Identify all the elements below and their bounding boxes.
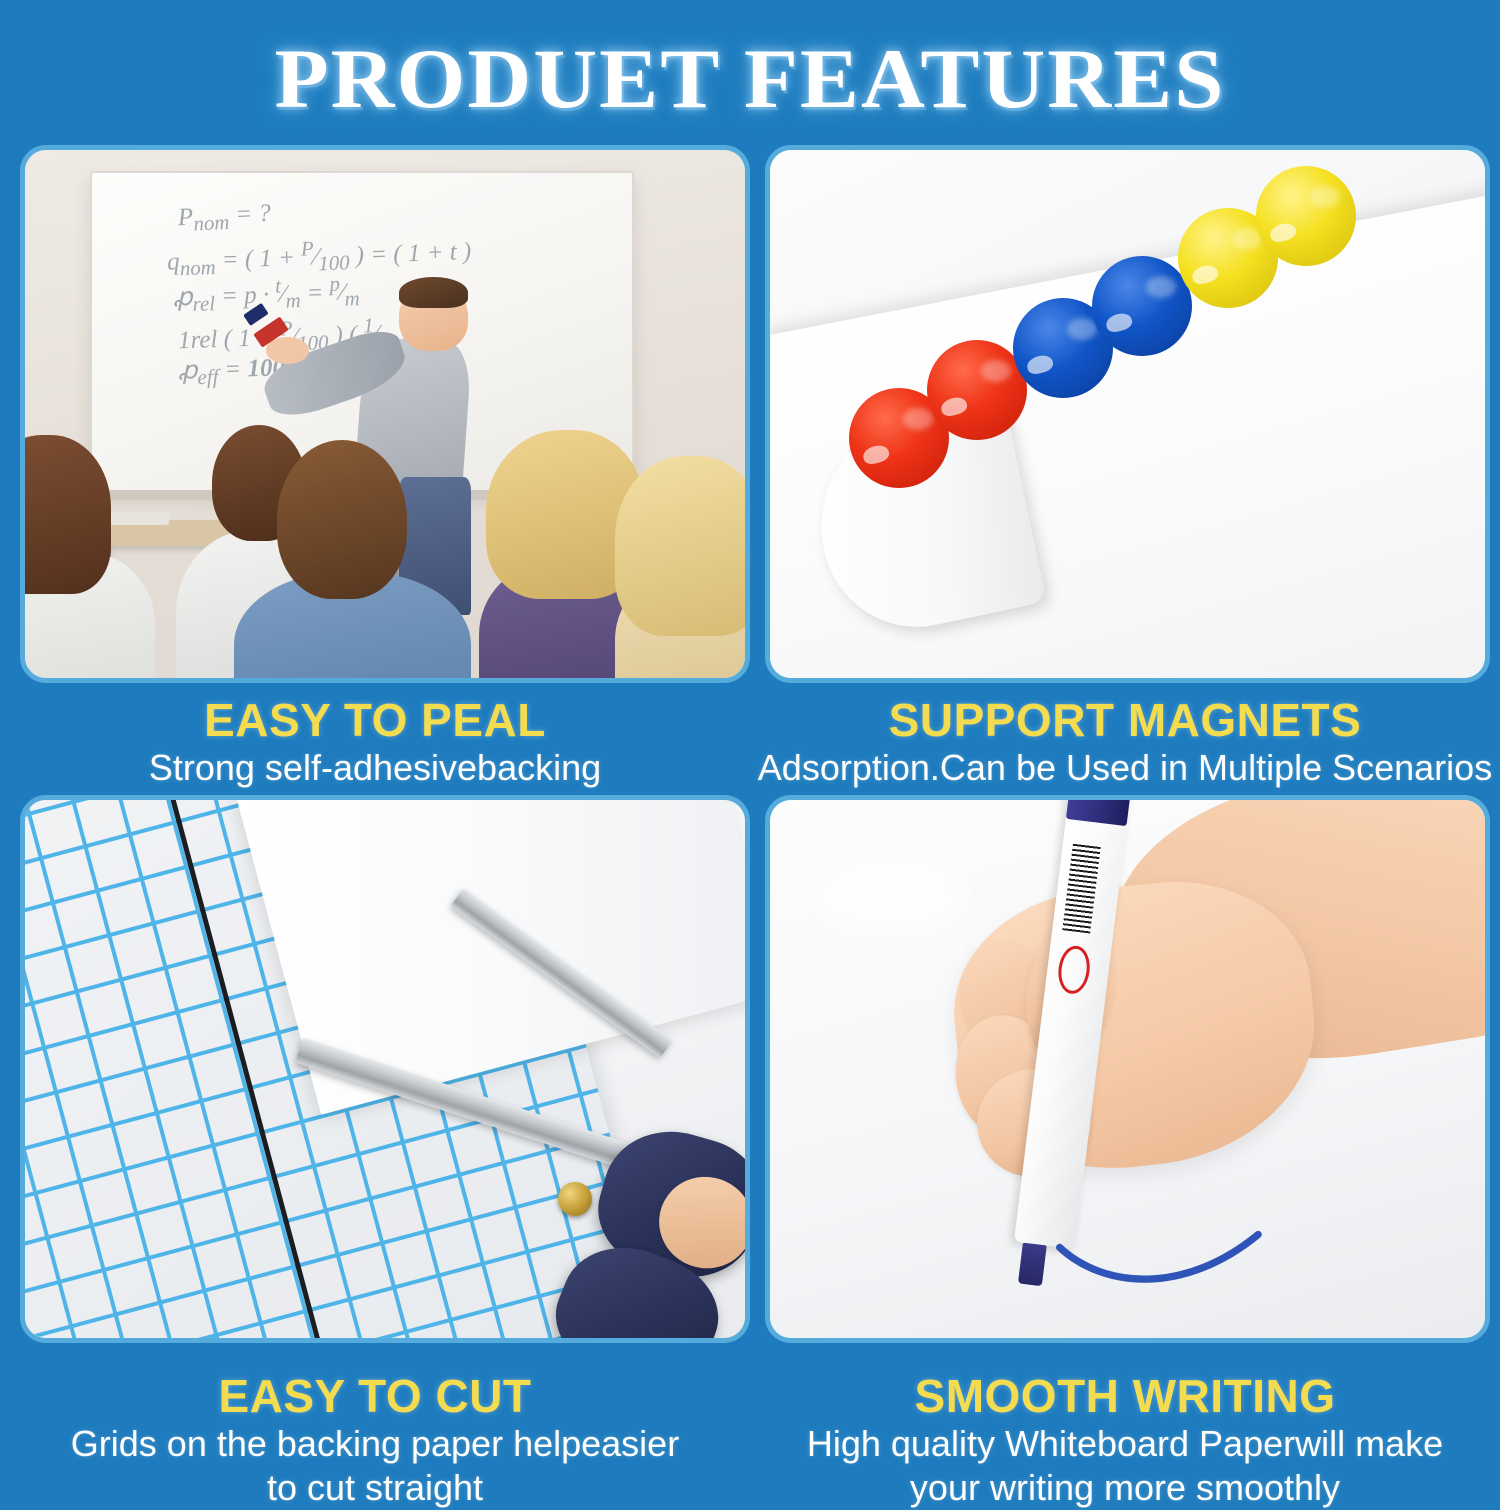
page-title: PRODUET FEATURES (0, 36, 1500, 122)
photo-frame (765, 795, 1490, 1343)
barcode-label (1062, 843, 1101, 934)
classroom-scene: Pnom = ? qnom = ( 1 + P⁄100 ) = ( 1 + t … (25, 150, 745, 678)
magnets-scene (770, 150, 1485, 678)
caption-support-magnets: SUPPORT MAGNETS Adsorption.Can be Used i… (750, 694, 1500, 790)
caption-subtext-line-2: to cut straight (0, 1466, 750, 1510)
caption-subtext-line-1: High quality Whiteboard Paperwill make (750, 1422, 1500, 1466)
caption-easy-to-peal: EASY TO PEAL Strong self-adhesivebacking (0, 694, 750, 790)
photo-frame: Pnom = ? qnom = ( 1 + P⁄100 ) = ( 1 + t … (20, 145, 750, 683)
caption-smooth-writing: SMOOTH WRITING High quality Whiteboard P… (750, 1370, 1500, 1510)
caption-heading: EASY TO CUT (0, 1370, 750, 1422)
age-warning-icon (1056, 944, 1092, 995)
scissors-pivot-screw (558, 1182, 592, 1216)
magnet-red-2 (927, 340, 1027, 440)
ink-stroke (1013, 1220, 1342, 1285)
product-features-infographic: PRODUET FEATURES Pnom = ? qnom = ( 1 + P… (0, 0, 1500, 1500)
caption-subtext: Strong self-adhesivebacking (0, 746, 750, 790)
caption-heading: EASY TO PEAL (0, 694, 750, 746)
caption-heading: SUPPORT MAGNETS (750, 694, 1500, 746)
writing-scene (770, 800, 1485, 1338)
magnet-yellow-2 (1256, 166, 1356, 266)
caption-easy-to-cut: EASY TO CUT Grids on the backing paper h… (0, 1370, 750, 1510)
caption-subtext-line-1: Grids on the backing paper helpeasier (0, 1422, 750, 1466)
caption-heading: SMOOTH WRITING (750, 1370, 1500, 1422)
feature-photo-easy-to-cut (20, 795, 750, 1343)
photo-frame (20, 795, 750, 1343)
cutting-scene (25, 800, 745, 1338)
photo-frame (765, 145, 1490, 683)
magnet-blue-2 (1092, 256, 1192, 356)
feature-photo-smooth-writing (765, 795, 1490, 1343)
marker-cap (1066, 800, 1132, 826)
feature-photo-easy-to-peal: Pnom = ? qnom = ( 1 + P⁄100 ) = ( 1 + t … (20, 145, 750, 683)
caption-subtext: Adsorption.Can be Used in Multiple Scena… (750, 746, 1500, 790)
feature-photo-support-magnets (765, 145, 1490, 683)
caption-subtext-line-2: your writing more smoothly (750, 1466, 1500, 1510)
